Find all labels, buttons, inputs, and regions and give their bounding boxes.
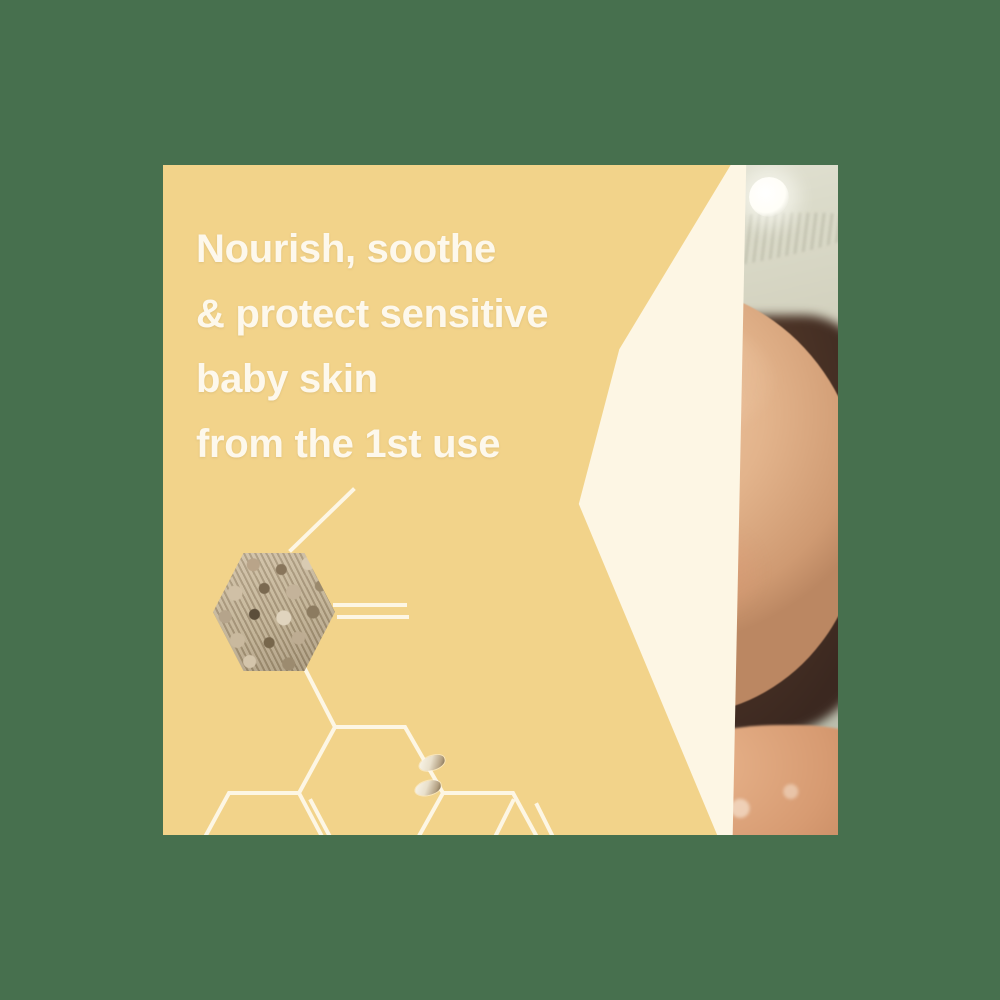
honeycomb-cell-middle-inner bbox=[311, 801, 345, 835]
honeycomb-cell-right-inner-c bbox=[537, 805, 567, 835]
oats-texture-hexagon bbox=[213, 553, 335, 671]
promo-card: Nourish, soothe & protect sensitive baby… bbox=[163, 165, 838, 835]
honeycomb-cell-left bbox=[193, 793, 299, 835]
headline-line-2: & protect sensitive bbox=[196, 282, 616, 347]
page-title: Nourish, soothe & protect sensitive baby… bbox=[196, 217, 616, 477]
baby-cheek-left bbox=[475, 525, 585, 617]
headline-line-4: from the 1st use bbox=[196, 412, 616, 477]
light-flare-circle-icon bbox=[749, 177, 789, 217]
headline-line-1: Nourish, soothe bbox=[196, 217, 616, 282]
baby-arm bbox=[453, 775, 703, 835]
honeycomb-cell-right-inner-a bbox=[481, 801, 513, 835]
headline-line-3: baby skin bbox=[196, 347, 616, 412]
baby-eye-left bbox=[525, 477, 571, 503]
honeycomb-cell-middle bbox=[299, 727, 443, 835]
oat-flake-icon bbox=[414, 779, 442, 797]
honeycomb-stem-up bbox=[291, 490, 353, 550]
outer-green-frame: Nourish, soothe & protect sensitive baby… bbox=[0, 0, 1000, 1000]
honeycomb-cell-right bbox=[443, 793, 549, 835]
baby-finger bbox=[554, 613, 627, 730]
honeycomb-stem-down bbox=[303, 665, 335, 727]
oat-flake-icon bbox=[418, 753, 447, 773]
